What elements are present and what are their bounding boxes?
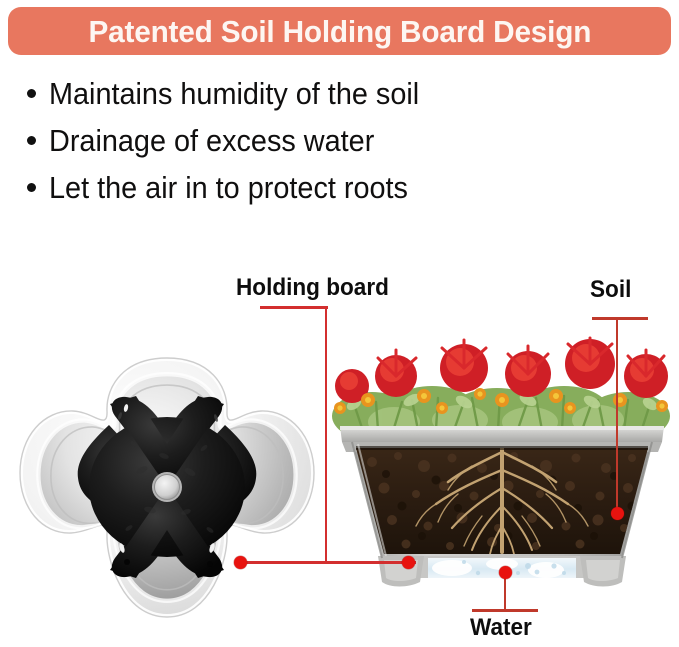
holding-board-marker-right <box>402 556 415 569</box>
soil-leader-cap <box>592 317 648 320</box>
water-marker <box>499 566 512 579</box>
feature-text: Drainage of excess water <box>49 125 374 156</box>
planter-cross-section <box>332 330 672 598</box>
feature-text: Maintains humidity of the soil <box>49 78 419 109</box>
header-banner: Patented Soil Holding Board Design <box>8 7 671 55</box>
page-title: Patented Soil Holding Board Design <box>88 16 591 47</box>
water-leader-line <box>504 578 506 611</box>
bullet-icon <box>27 89 36 98</box>
soil-holding-board-top-view <box>14 352 320 624</box>
callout-label-soil: Soil <box>590 278 631 302</box>
soil-leader-line <box>616 317 618 514</box>
feature-text: Let the air in to protect roots <box>49 172 408 203</box>
holding-board-leader-cap <box>260 306 328 309</box>
list-item: Let the air in to protect roots <box>20 164 660 211</box>
holding-board-leader-line <box>325 306 327 562</box>
callout-label-holding-board: Holding board <box>236 276 389 300</box>
bullet-icon <box>27 183 36 192</box>
holding-board-marker-left <box>234 556 247 569</box>
list-item: Maintains humidity of the soil <box>20 70 660 117</box>
holding-board-connector <box>240 561 416 564</box>
callout-label-water: Water <box>470 616 532 640</box>
center-drain-hole <box>152 472 182 502</box>
list-item: Drainage of excess water <box>20 117 660 164</box>
bullet-icon <box>27 136 36 145</box>
soil-marker <box>611 507 624 520</box>
feature-list: Maintains humidity of the soil Drainage … <box>20 70 660 211</box>
soil-area <box>352 438 652 557</box>
cross-section-illustration <box>332 330 672 598</box>
top-view-illustration <box>14 352 320 624</box>
plants <box>332 338 670 440</box>
